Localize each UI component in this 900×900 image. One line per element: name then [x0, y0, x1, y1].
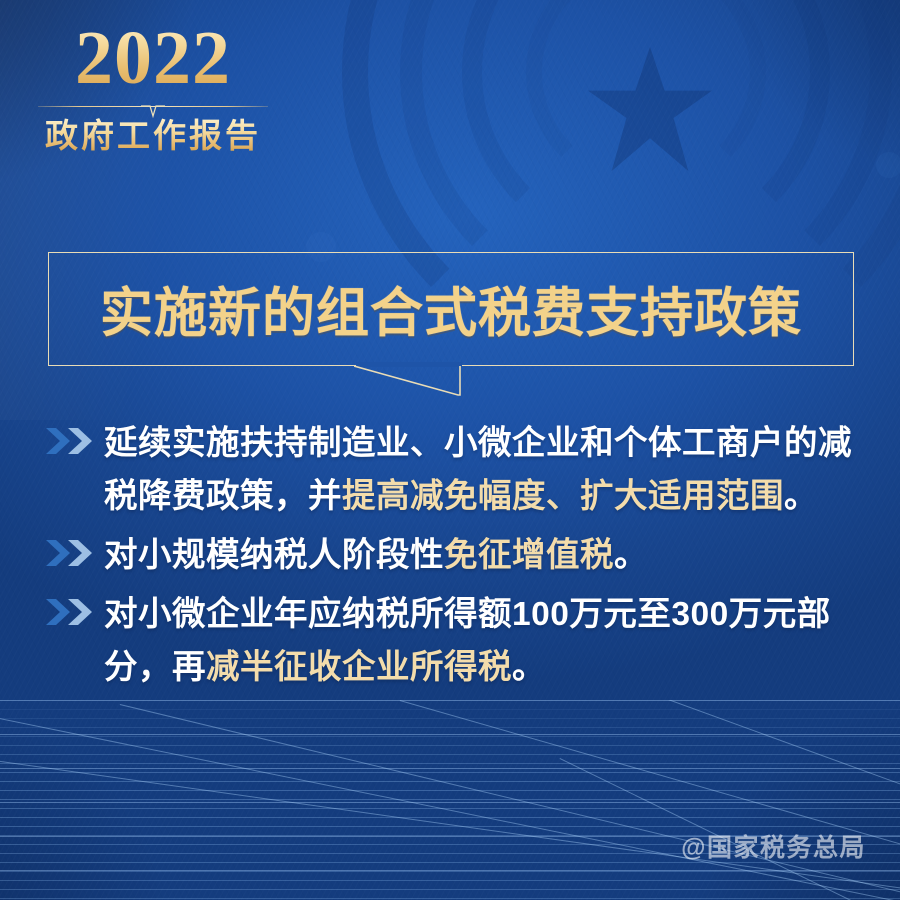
list-item: 延续实施扶持制造业、小微企业和个体工商户的减税降费政策，并提高减免幅度、扩大适用…: [46, 418, 882, 524]
list-item-text: 对小微企业年应纳税所得额100万元至300万元部分，再减半征收企业所得税。: [104, 589, 882, 695]
report-subtitle: 政府工作报告: [38, 118, 268, 154]
list-item-text: 对小规模纳税人阶段性免征增值税。: [104, 530, 882, 583]
double-chevron-right-icon: [46, 530, 104, 583]
watermark-credit: @国家税务总局: [681, 828, 866, 864]
double-chevron-right-icon: [46, 418, 104, 524]
list-item: 对小微企业年应纳税所得额100万元至300万元部分，再减半征收企业所得税。: [46, 589, 882, 695]
bullet-3-seg-3: 。: [512, 649, 546, 686]
grid-horizontal-major: [0, 700, 900, 900]
page-title: 实施新的组合式税费支持政策: [48, 252, 854, 366]
poster-header: 2022 政府工作报告: [38, 22, 268, 154]
bullet-3-seg-2: 减半征收企业所得税: [206, 649, 512, 686]
title-callout-box: 实施新的组合式税费支持政策: [48, 252, 854, 366]
double-chevron-right-icon: [46, 589, 104, 695]
poster-canvas: 2022 政府工作报告 实施新的组合式税费支持政策: [0, 0, 900, 900]
year-label: 2022: [38, 22, 268, 95]
list-item-text: 延续实施扶持制造业、小微企业和个体工商户的减税降费政策，并提高减免幅度、扩大适用…: [104, 418, 882, 524]
bullet-list: 延续实施扶持制造业、小微企业和个体工商户的减税降费政策，并提高减免幅度、扩大适用…: [46, 418, 882, 701]
bullet-1-seg-2: 提高减免幅度、扩大适用范围: [342, 478, 784, 515]
v-notch-divider-icon: [38, 99, 268, 115]
divider-notch: [140, 105, 166, 118]
list-item: 对小规模纳税人阶段性免征增值税。: [46, 530, 882, 583]
perspective-grid-icon: [0, 700, 900, 900]
bullet-2-seg-3: 。: [614, 537, 648, 574]
bullet-2-seg-2: 免征增值税: [444, 537, 614, 574]
speech-bubble-tail-icon: [354, 364, 474, 400]
bullet-1-seg-3: 。: [784, 478, 818, 515]
bullet-2-seg-1: 对小规模纳税人阶段性: [104, 537, 444, 574]
